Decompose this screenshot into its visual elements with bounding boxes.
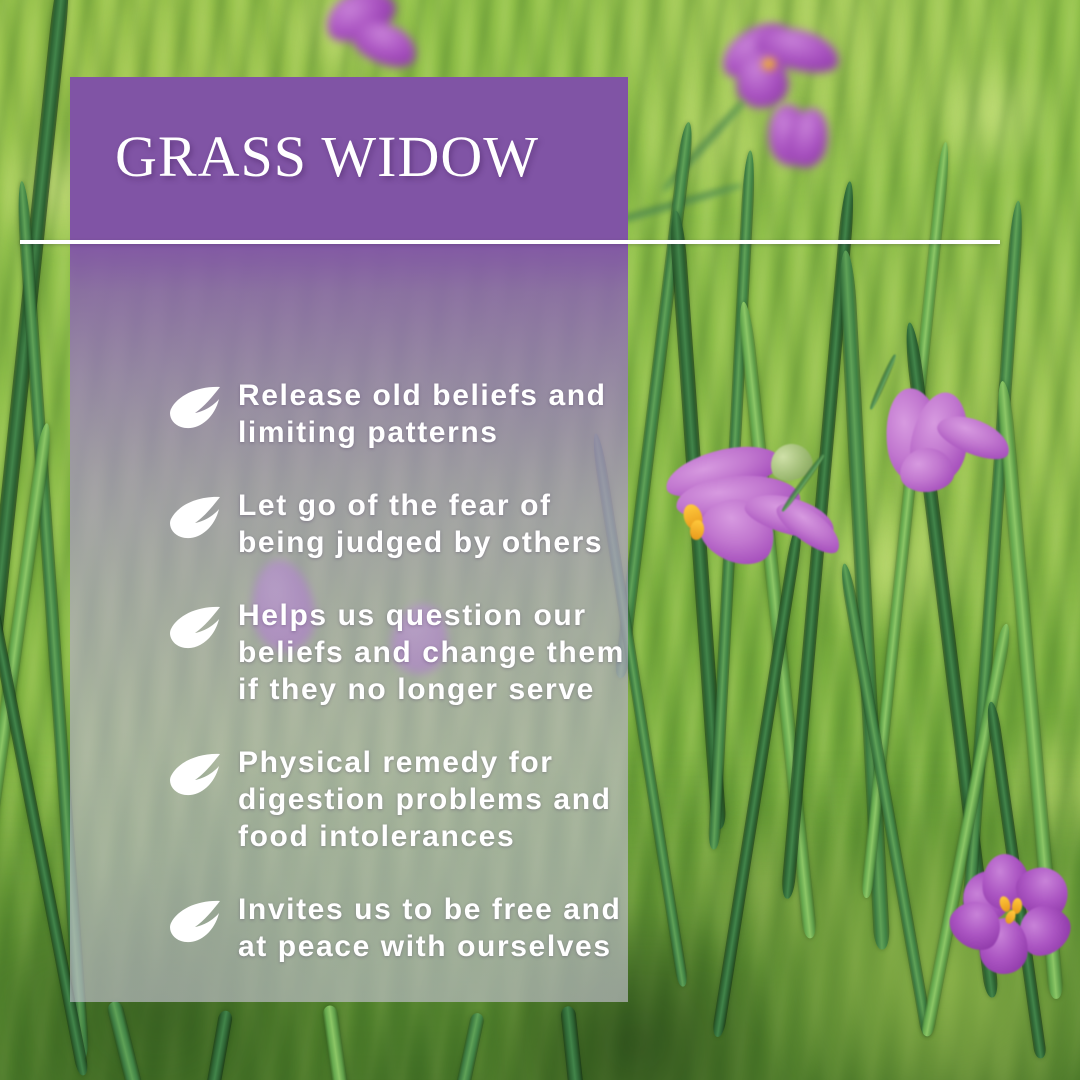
flower-card: GRASS WIDOW Release old beliefs and limi… [0,0,1080,1080]
content-panel [70,77,628,1002]
panel-veil [70,262,628,1002]
title-divider [20,240,1000,244]
